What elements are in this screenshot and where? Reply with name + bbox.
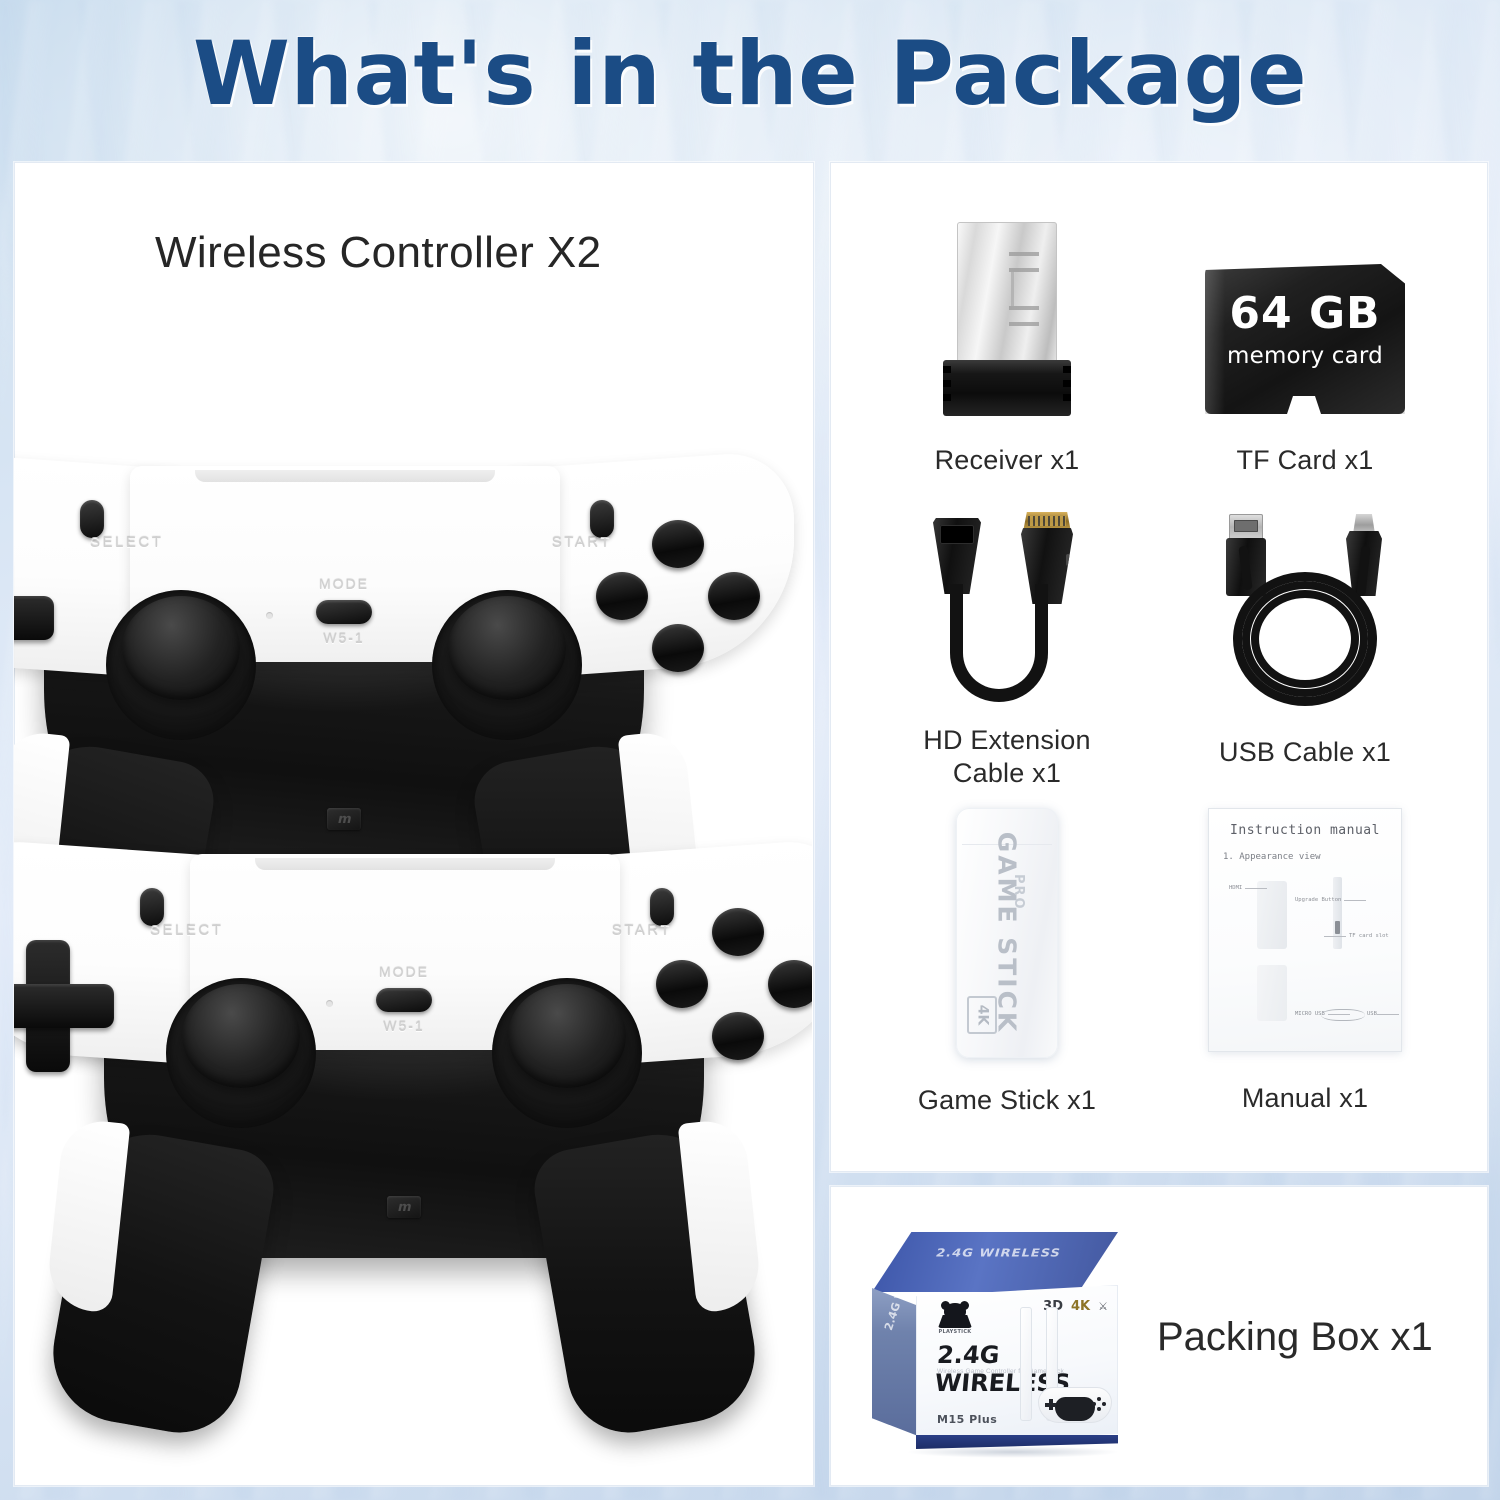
hd-cable-label-line1: HD Extension (872, 724, 1142, 757)
model-label: W5-1 (383, 1018, 424, 1034)
game-stick-device-suffix: PRO (1011, 874, 1026, 911)
item-game-stick: GAME STICK PRO 4K Game Stick x1 (872, 808, 1142, 1117)
box-top-face: 2.4G WIRELESS (872, 1232, 1118, 1292)
manual-cover-title: Instruction manual (1209, 823, 1401, 838)
page-title: What's in the Package (0, 22, 1500, 125)
analog-stick-right[interactable] (432, 590, 582, 740)
badge-4k: 4K (1071, 1299, 1090, 1314)
item-usb-cable: USB Cable x1 (1170, 512, 1440, 769)
brand-logo-caption: PLAYSTICK (938, 1329, 972, 1335)
item-hd-extension-cable: HD Extension Cable x1 (872, 512, 1142, 790)
box-model-text: M15 Plus (937, 1413, 997, 1426)
usb-cable-coil (1233, 572, 1377, 706)
box-controller-dpad-icon (1045, 1399, 1056, 1410)
brand-logo-icon: PLAYSTICK (938, 1303, 972, 1331)
box-side-face: 2.4G WIRELESS (872, 1288, 918, 1436)
controller-logo: m (387, 1196, 421, 1218)
manual-diagram-device-back (1257, 965, 1287, 1021)
usb-cable-image (1170, 512, 1440, 712)
mode-label: MODE (319, 576, 369, 592)
product-box-icon: 2.4G WIRELESS 2.4G WIRELESS PLAYSTICK 2.… (866, 1232, 1156, 1462)
face-buttons[interactable] (656, 908, 812, 1078)
hdmi-cable-icon (917, 512, 1097, 712)
box-controller-buttons-icon (1092, 1397, 1106, 1411)
mode-label: MODE (379, 964, 429, 980)
hdmi-female-connector (933, 518, 981, 594)
receiver-label: Receiver x1 (872, 444, 1142, 477)
tf-card-type: memory card (1205, 343, 1405, 369)
dpad[interactable] (14, 552, 54, 684)
controller-logo-text: m (396, 1200, 412, 1215)
instruction-manual-icon: Instruction manual 1. Appearance view HD… (1208, 808, 1402, 1052)
game-stick-image: GAME STICK PRO 4K (872, 808, 1142, 1058)
usb-cable-icon (1210, 512, 1400, 712)
game-stick-label: Game Stick x1 (872, 1084, 1142, 1117)
item-tf-card: 64 GB memory card TF Card x1 (1170, 222, 1440, 477)
tf-card-capacity: 64 GB (1205, 292, 1405, 336)
box-front-face: PLAYSTICK 2.4G WIRELESS Wireless Game Co… (916, 1285, 1118, 1445)
manual-callout-hdmi: HDMI (1229, 885, 1242, 891)
manual-callout-upgrade-button: Upgrade Button (1295, 897, 1341, 903)
manual-image: Instruction manual 1. Appearance view HD… (1170, 808, 1440, 1052)
controller-shell: SELECT START MODE W5-1 (14, 848, 812, 1188)
model-label: W5-1 (323, 630, 364, 646)
box-top-text: 2.4G WIRELESS (934, 1247, 1062, 1260)
tf-card-label: TF Card x1 (1170, 444, 1440, 477)
controller-touchpad (255, 858, 555, 870)
select-button[interactable] (140, 888, 164, 926)
mode-button[interactable] (316, 600, 372, 624)
box-controller-art (1038, 1383, 1112, 1431)
game-stick-device-icon: GAME STICK PRO 4K (956, 808, 1058, 1058)
manual-label: Manual x1 (1170, 1082, 1440, 1115)
badge-joystick-icon: ⚔ (1098, 1300, 1108, 1313)
item-receiver: Receiver x1 (872, 222, 1142, 477)
dpad[interactable] (14, 940, 114, 1072)
packing-box-label: Packing Box x1 (1157, 1315, 1433, 1360)
select-label: SELECT (90, 534, 163, 551)
manual-cover-section: 1. Appearance view (1223, 852, 1321, 862)
hd-cable-image (872, 512, 1142, 712)
left-panel-heading: Wireless Controller X2 (155, 228, 601, 278)
mode-button[interactable] (376, 988, 432, 1012)
manual-diagram-cable (1321, 1009, 1365, 1021)
analog-stick-right[interactable] (492, 978, 642, 1128)
game-stick-4k-badge: 4K (967, 996, 997, 1034)
tf-card-image: 64 GB memory card (1170, 222, 1440, 414)
item-manual: Instruction manual 1. Appearance view HD… (1170, 808, 1440, 1115)
controller-touchpad (195, 470, 495, 482)
manual-callout-tf-card-slot: TF card slot (1349, 933, 1389, 939)
manual-diagram-device-front (1257, 881, 1287, 949)
usb-dongle-icon (943, 222, 1071, 422)
receiver-image (872, 222, 1142, 422)
packing-box-image: 2.4G WIRELESS 2.4G WIRELESS PLAYSTICK 2.… (866, 1232, 1156, 1462)
hdmi-cable-wire (950, 584, 1048, 702)
face-buttons[interactable] (596, 520, 766, 690)
memory-card-icon: 64 GB memory card (1205, 264, 1405, 414)
select-button[interactable] (80, 500, 104, 538)
usb-cable-label: USB Cable x1 (1170, 736, 1440, 769)
controller-photo-stage: SELECT START MODE W5-1 m (14, 420, 812, 1484)
analog-stick-left[interactable] (166, 978, 316, 1128)
hd-cable-label-line2: Cable x1 (872, 757, 1142, 790)
manual-diagram-device-side (1333, 877, 1342, 949)
game-stick-badge-text: 4K (974, 1005, 990, 1026)
select-label: SELECT (150, 922, 223, 939)
analog-stick-left[interactable] (106, 590, 256, 740)
controller-lower: SELECT START MODE W5-1 m (14, 808, 812, 1484)
manual-callout-usb: USB (1367, 1011, 1377, 1017)
